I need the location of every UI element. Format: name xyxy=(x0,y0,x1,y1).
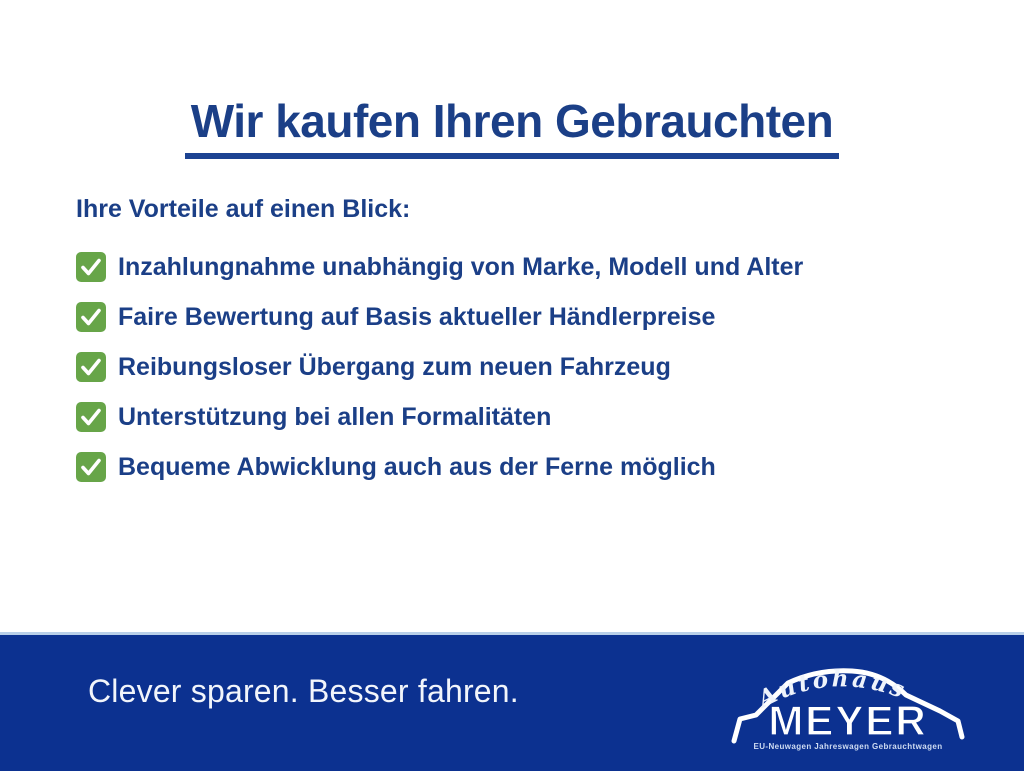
logo-name: MEYER xyxy=(768,697,927,744)
page-title: Wir kaufen Ihren Gebrauchten xyxy=(185,97,840,159)
list-item-label: Unterstützung bei allen Formalitäten xyxy=(118,403,551,432)
list-item-label: Faire Bewertung auf Basis aktueller Händ… xyxy=(118,303,715,332)
check-square-icon xyxy=(76,402,106,432)
list-item: Unterstützung bei allen Formalitäten xyxy=(76,392,976,442)
check-square-icon xyxy=(76,302,106,332)
list-item-label: Inzahlungnahme unabhängig von Marke, Mod… xyxy=(118,253,803,282)
benefits-section: Ihre Vorteile auf einen Blick: Inzahlung… xyxy=(76,194,976,492)
check-square-icon xyxy=(76,252,106,282)
tagline: Clever sparen. Besser fahren. xyxy=(88,673,519,710)
list-item-label: Bequeme Abwicklung auch aus der Ferne mö… xyxy=(118,453,716,482)
benefits-list: Inzahlungnahme unabhängig von Marke, Mod… xyxy=(76,242,976,492)
check-square-icon xyxy=(76,452,106,482)
dealer-logo: Autohaus MEYER EU-Neuwagen Jahreswagen G… xyxy=(726,649,971,757)
list-item: Bequeme Abwicklung auch aus der Ferne mö… xyxy=(76,442,976,492)
promo-slide: Wir kaufen Ihren Gebrauchten Ihre Vortei… xyxy=(0,0,1024,768)
list-item: Faire Bewertung auf Basis aktueller Händ… xyxy=(76,292,976,342)
list-item: Reibungsloser Übergang zum neuen Fahrzeu… xyxy=(76,342,976,392)
list-item-label: Reibungsloser Übergang zum neuen Fahrzeu… xyxy=(118,353,671,382)
footer-banner: Clever sparen. Besser fahren. Autohaus M… xyxy=(0,632,1024,771)
logo-subtitle: EU-Neuwagen Jahreswagen Gebrauchtwagen xyxy=(753,742,942,751)
headline-container: Wir kaufen Ihren Gebrauchten xyxy=(0,66,1024,190)
benefits-heading: Ihre Vorteile auf einen Blick: xyxy=(76,194,976,224)
list-item: Inzahlungnahme unabhängig von Marke, Mod… xyxy=(76,242,976,292)
check-square-icon xyxy=(76,352,106,382)
